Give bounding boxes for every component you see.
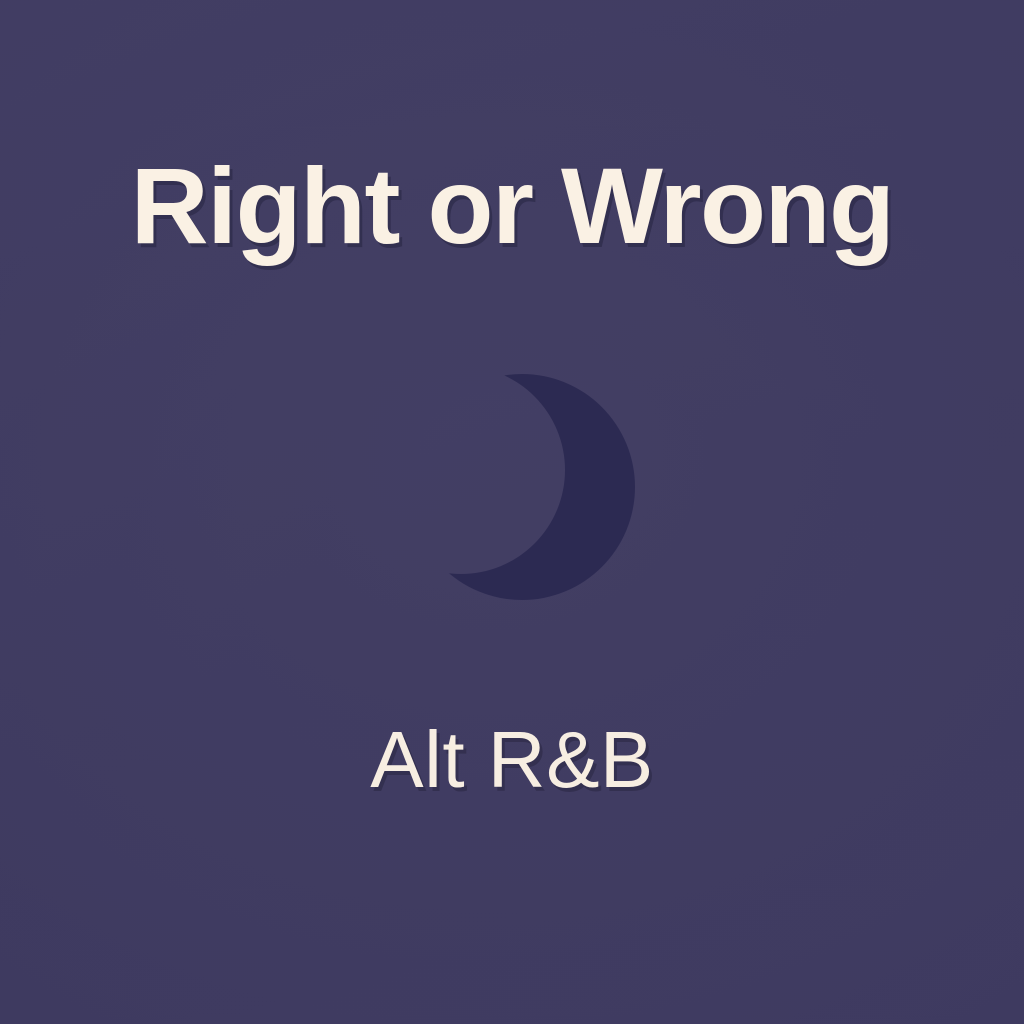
crescent-moon-icon (430, 362, 630, 612)
page-title: Right or Wrong (0, 152, 1024, 260)
crescent-moon-glyph (430, 362, 630, 612)
genre-subtitle: Alt R&B (0, 720, 1024, 800)
album-cover-artwork: Right or Wrong Alt R&B (0, 0, 1024, 1024)
